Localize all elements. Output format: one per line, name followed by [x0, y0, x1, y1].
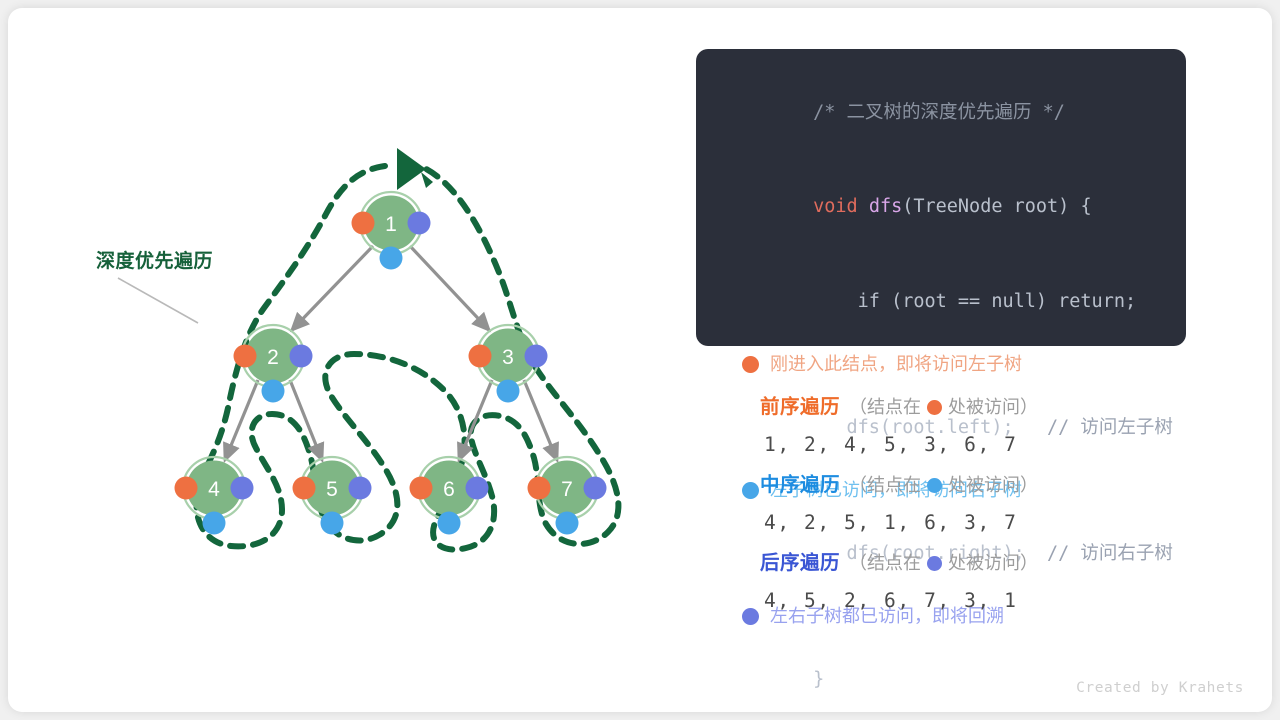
node-3-label: 3	[502, 346, 514, 369]
result-preorder-prefix: （结点在	[849, 392, 921, 422]
blue-dot-icon	[927, 478, 942, 493]
tree-node-3[interactable]: 3	[469, 325, 548, 403]
node-2-dot-blue	[262, 380, 285, 403]
tree-node-5[interactable]: 5	[293, 457, 372, 535]
result-preorder: 前序遍历 （结点在 处被访问） 1, 2, 4, 5, 3, 6, 7	[760, 392, 1180, 456]
node-2-dot-orange	[234, 345, 257, 368]
node-2-dot-purple	[290, 345, 313, 368]
result-preorder-suffix: 处被访问）	[948, 392, 1038, 422]
node-5-dot-orange	[293, 477, 316, 500]
node-3-dot-orange	[469, 345, 492, 368]
result-inorder-head: 中序遍历 （结点在 处被访问）	[760, 470, 1180, 500]
result-preorder-sequence: 1, 2, 4, 5, 3, 6, 7	[764, 433, 1180, 456]
result-inorder: 中序遍历 （结点在 处被访问） 4, 2, 5, 1, 6, 3, 7	[760, 470, 1180, 534]
result-postorder-head: 后序遍历 （结点在 处被访问）	[760, 548, 1180, 578]
node-6-label: 6	[443, 478, 455, 501]
tree-node-4[interactable]: 4	[175, 457, 254, 535]
code-line-2: if (root == null) return;	[724, 254, 1164, 349]
code-close-brace: }	[813, 669, 824, 690]
node-7-label: 7	[561, 478, 573, 501]
node-3-dot-blue	[497, 380, 520, 403]
code-signature: (TreeNode root) {	[902, 196, 1091, 217]
node-6-dot-purple	[466, 477, 489, 500]
code-line-1: void dfs(TreeNode root) {	[724, 160, 1164, 255]
label-leader-line	[118, 278, 198, 323]
node-7-dot-blue	[556, 512, 579, 535]
result-inorder-suffix: 处被访问）	[948, 470, 1038, 500]
note-text-orange: 刚进入此结点，即将访问左子树	[770, 349, 1022, 381]
result-postorder-title: 后序遍历	[760, 548, 840, 578]
code-line-8: }	[724, 632, 1164, 720]
blue-dot-icon	[742, 482, 759, 499]
node-1-dot-purple	[408, 212, 431, 235]
node-1-label: 1	[385, 213, 397, 236]
result-postorder: 后序遍历 （结点在 处被访问） 4, 5, 2, 6, 7, 3, 1	[760, 548, 1180, 612]
node-7-dot-purple	[584, 477, 607, 500]
orange-dot-icon	[742, 356, 759, 373]
node-6-dot-blue	[438, 512, 461, 535]
figure-card: 1 2 3	[8, 8, 1272, 712]
result-inorder-title: 中序遍历	[760, 470, 840, 500]
node-5-dot-blue	[321, 512, 344, 535]
result-inorder-sub: （结点在 处被访问）	[849, 470, 1038, 500]
result-inorder-sequence: 4, 2, 5, 1, 6, 3, 7	[764, 511, 1180, 534]
node-1-dot-blue	[380, 247, 403, 270]
code-null-check: if (root == null) return;	[813, 291, 1136, 312]
node-7-dot-orange	[528, 477, 551, 500]
orange-dot-icon	[927, 400, 942, 415]
code-comment: /* 二叉树的深度优先遍历 */	[813, 102, 1065, 123]
code-line-0: /* 二叉树的深度优先遍历 */	[724, 65, 1164, 160]
result-postorder-sub: （结点在 处被访问）	[849, 548, 1038, 578]
edge-1-3	[410, 246, 489, 330]
code-fn-dfs: dfs	[869, 196, 902, 217]
code-space	[858, 196, 869, 217]
footer-credit: Created by Krahets	[1076, 680, 1244, 696]
result-preorder-title: 前序遍历	[760, 392, 840, 422]
result-preorder-sub: （结点在 处被访问）	[849, 392, 1038, 422]
node-4-label: 4	[208, 478, 220, 501]
purple-dot-icon	[927, 556, 942, 571]
node-4-dot-orange	[175, 477, 198, 500]
code-note-orange: 刚进入此结点，即将访问左子树	[724, 349, 1164, 381]
code-keyword-void: void	[813, 196, 858, 217]
code-panel: /* 二叉树的深度优先遍历 */ void dfs(TreeNode root)…	[696, 49, 1186, 346]
traversal-results: 前序遍历 （结点在 处被访问） 1, 2, 4, 5, 3, 6, 7 中序遍历…	[760, 392, 1180, 626]
node-4-dot-purple	[231, 477, 254, 500]
result-postorder-sequence: 4, 5, 2, 6, 7, 3, 1	[764, 589, 1180, 612]
result-postorder-prefix: （结点在	[849, 548, 921, 578]
node-4-dot-blue	[203, 512, 226, 535]
node-2-label: 2	[267, 346, 279, 369]
node-6-dot-orange	[410, 477, 433, 500]
binary-tree-diagram: 1 2 3	[68, 118, 688, 588]
tree-node-2[interactable]: 2	[234, 325, 313, 403]
figure-canvas: 1 2 3	[0, 0, 1280, 720]
result-preorder-head: 前序遍历 （结点在 处被访问）	[760, 392, 1180, 422]
node-5-label: 5	[326, 478, 338, 501]
node-5-dot-purple	[349, 477, 372, 500]
result-inorder-prefix: （结点在	[849, 470, 921, 500]
edge-1-2	[292, 246, 373, 330]
tree-node-7[interactable]: 7	[528, 457, 607, 535]
dfs-label: 深度优先遍历	[96, 246, 213, 273]
node-3-dot-purple	[525, 345, 548, 368]
tree-node-6[interactable]: 6	[410, 457, 489, 535]
purple-dot-icon	[742, 608, 759, 625]
node-1-dot-orange	[352, 212, 375, 235]
result-postorder-suffix: 处被访问）	[948, 548, 1038, 578]
